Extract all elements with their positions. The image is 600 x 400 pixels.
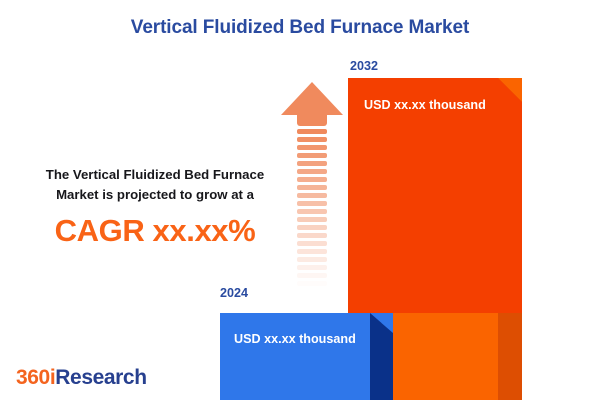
arrow-stripe — [297, 145, 327, 150]
bar-2024-top — [370, 313, 393, 333]
bar-2024-value-label: USD xx.xx thousand — [234, 332, 356, 346]
arrow-stripe — [297, 233, 327, 238]
logo-text-research: Research — [55, 366, 146, 389]
cagr-value: CAGR xx.xx% — [14, 214, 296, 248]
arrow-stripe — [297, 153, 327, 158]
infographic-canvas: Vertical Fluidized Bed Furnace Market Th… — [0, 0, 600, 400]
arrow-stripe — [297, 289, 327, 294]
arrow-stripe — [297, 249, 327, 254]
arrow-stripe — [297, 225, 327, 230]
arrow-stripe — [297, 265, 327, 270]
arrow-stripe — [297, 209, 327, 214]
arrow-neck — [297, 114, 327, 126]
arrow-stripe — [297, 297, 327, 302]
bar-2032-upper-shade — [348, 78, 522, 313]
arrow-stripes — [297, 129, 327, 308]
arrow-stripe — [297, 217, 327, 222]
growth-arrow-icon — [281, 82, 343, 308]
arrow-stripe — [297, 185, 327, 190]
arrow-stripe — [297, 137, 327, 142]
statement-line-1: The Vertical Fluidized Bed Furnace — [14, 165, 296, 185]
arrow-stripe — [297, 257, 327, 262]
bar-2024-face — [220, 313, 370, 400]
year-label-2024: 2024 — [220, 286, 248, 300]
arrow-stripe — [297, 273, 327, 278]
arrow-stripe — [297, 177, 327, 182]
arrow-stripe — [297, 201, 327, 206]
arrow-stripe — [297, 169, 327, 174]
arrow-stripe — [297, 281, 327, 286]
statement-line-2: Market is projected to grow at a — [14, 185, 296, 205]
arrow-head-icon — [281, 82, 343, 115]
brand-logo: 360iResearch — [16, 366, 147, 390]
bar-2024: USD xx.xx thousand — [220, 313, 370, 400]
arrow-stripe — [297, 241, 327, 246]
arrow-stripe — [297, 193, 327, 198]
page-title: Vertical Fluidized Bed Furnace Market — [0, 17, 600, 39]
bar-2032-value-label: USD xx.xx thousand — [364, 98, 486, 112]
arrow-stripe — [297, 129, 327, 134]
logo-text-360i: 360i — [16, 366, 55, 389]
year-label-2032: 2032 — [350, 59, 378, 73]
arrow-stripe — [297, 161, 327, 166]
cagr-statement: The Vertical Fluidized Bed Furnace Marke… — [14, 165, 296, 248]
